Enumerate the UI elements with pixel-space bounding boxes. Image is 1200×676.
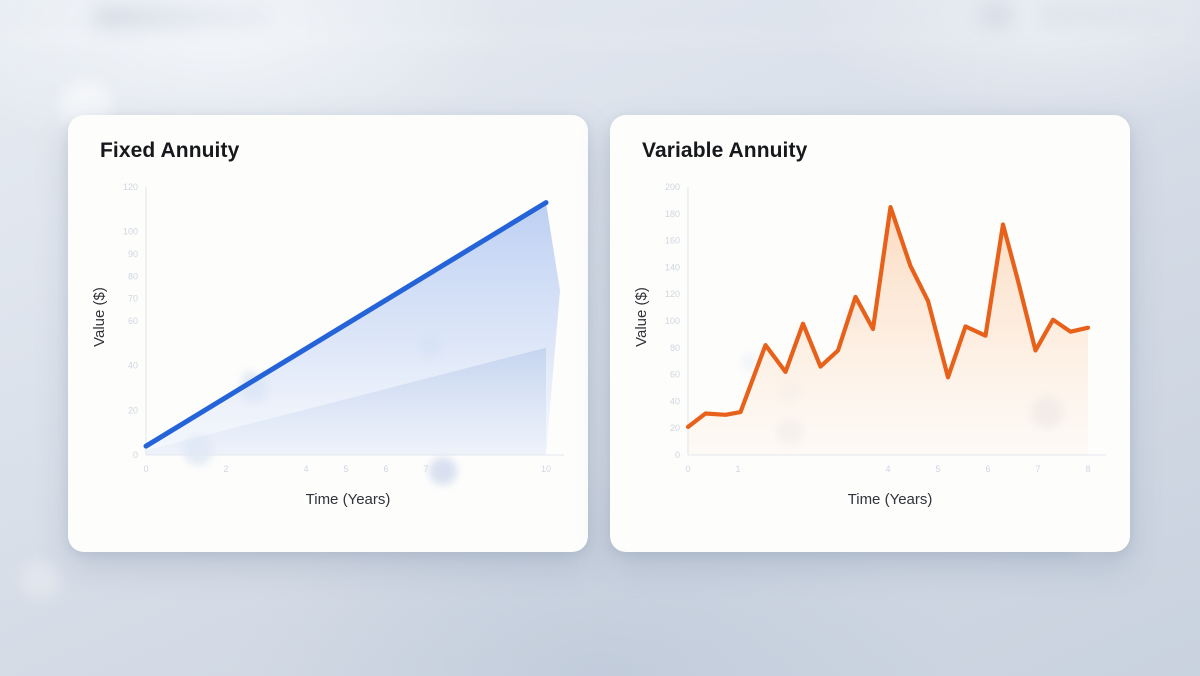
blurred-browser-tab-icon [980,2,1014,28]
svg-text:80: 80 [670,343,680,353]
svg-text:60: 60 [128,316,138,326]
svg-text:40: 40 [128,361,138,371]
svg-text:180: 180 [665,209,680,219]
svg-text:100: 100 [665,316,680,326]
variable-annuity-area [688,207,1088,455]
svg-text:5: 5 [343,464,348,474]
blurred-toolbar-strip [0,34,1200,42]
x-axis-title-variable: Time (Years) [848,491,933,508]
variable-annuity-svg: 200180160140120100806040200 0145678 Time… [610,167,1130,552]
svg-text:20: 20 [670,423,680,433]
svg-text:8: 8 [1085,464,1090,474]
svg-text:6: 6 [985,464,990,474]
svg-text:160: 160 [665,236,680,246]
svg-text:0: 0 [675,450,680,460]
svg-text:7: 7 [1035,464,1040,474]
plot-area-variable-annuity[interactable]: 200180160140120100806040200 0145678 Time… [610,167,1130,552]
svg-text:5: 5 [935,464,940,474]
x-axis-ticks: 0145678 [685,464,1090,474]
x-axis-title-fixed: Time (Years) [306,491,391,508]
svg-text:2: 2 [223,464,228,474]
y-axis-title-variable: Value ($) [633,287,650,347]
blurred-window-titlebar [95,5,270,31]
svg-text:10: 10 [541,464,551,474]
y-axis-ticks: 200180160140120100806040200 [665,182,680,460]
svg-text:0: 0 [143,464,148,474]
plot-area-fixed-annuity[interactable]: 1201009080706040200 02456710 Time (Years… [68,167,588,552]
svg-text:80: 80 [128,271,138,281]
svg-text:20: 20 [128,405,138,415]
svg-text:70: 70 [128,294,138,304]
x-axis-ticks: 02456710 [143,464,551,474]
svg-text:6: 6 [383,464,388,474]
chart-card-variable-annuity[interactable]: Variable Annuity [610,115,1130,552]
chart-card-fixed-annuity[interactable]: Fixed Annuity [68,115,588,552]
chart-title-fixed-annuity: Fixed Annuity [100,139,239,163]
svg-text:120: 120 [665,289,680,299]
fixed-annuity-svg: 1201009080706040200 02456710 Time (Years… [68,167,588,552]
svg-text:40: 40 [670,396,680,406]
svg-text:60: 60 [670,370,680,380]
svg-text:4: 4 [885,464,890,474]
svg-text:0: 0 [685,464,690,474]
blurred-browser-tab [1040,4,1170,24]
svg-text:120: 120 [123,182,138,192]
svg-text:140: 140 [665,262,680,272]
svg-text:4: 4 [303,464,308,474]
chart-title-variable-annuity: Variable Annuity [642,139,807,163]
svg-text:90: 90 [128,249,138,259]
y-axis-ticks: 1201009080706040200 [123,182,138,460]
y-axis-title-fixed: Value ($) [91,287,108,347]
svg-text:7: 7 [423,464,428,474]
svg-text:1: 1 [735,464,740,474]
svg-text:100: 100 [123,227,138,237]
bokeh-highlight [20,560,60,600]
svg-text:0: 0 [133,450,138,460]
svg-text:200: 200 [665,182,680,192]
